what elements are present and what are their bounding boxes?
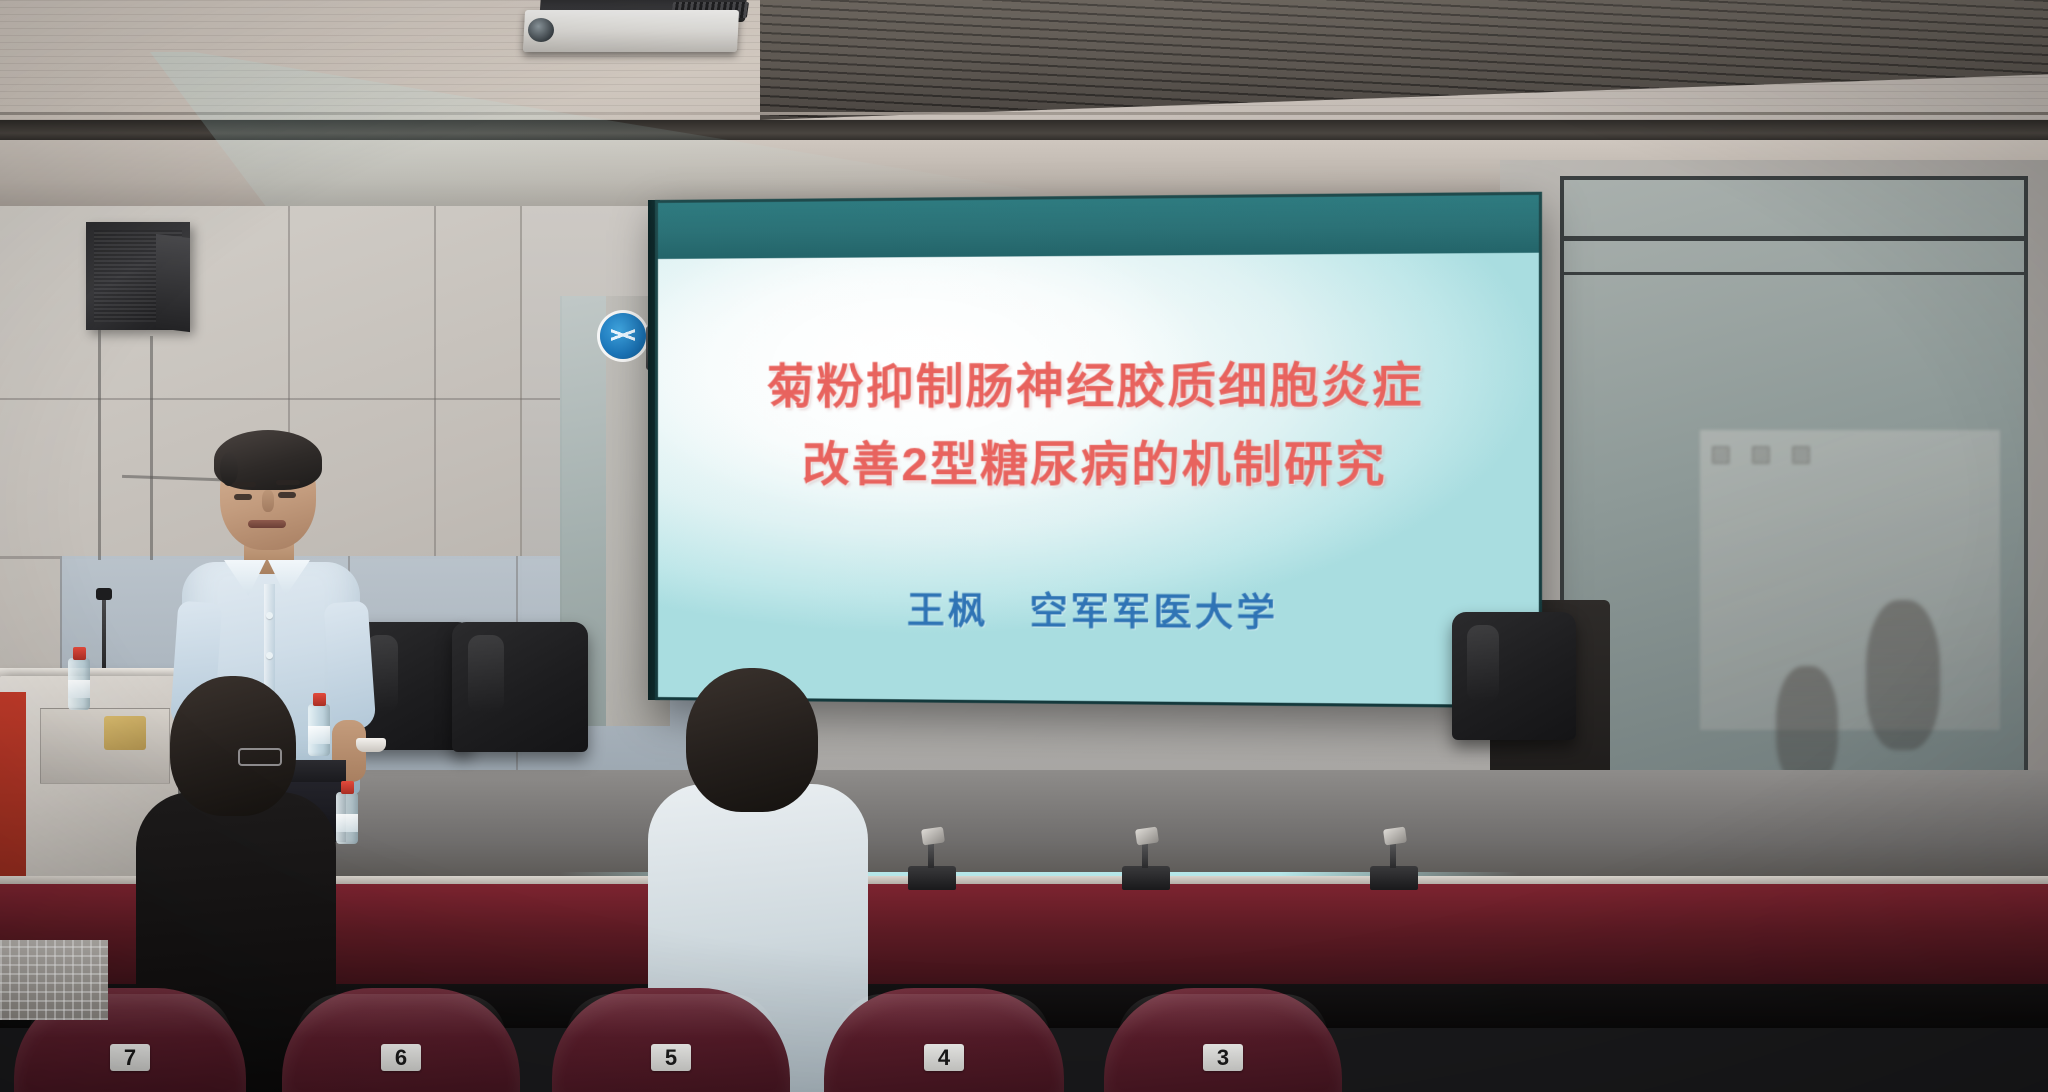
seat-number: 5 (651, 1044, 691, 1071)
wall-air-grille (0, 940, 108, 1020)
attendee-left-glasses-icon (238, 748, 282, 766)
window-reflection-person-2 (1776, 666, 1838, 786)
tea-cup (356, 738, 386, 752)
institution-logo-icon (600, 313, 646, 359)
podium-red-accent (0, 692, 26, 892)
window-reflection-person-1 (1866, 600, 1940, 750)
podium-mic-icon (96, 588, 112, 600)
presenter-eye-right (278, 492, 296, 498)
window-poster: ▨ ▨ ▨ (1700, 430, 2000, 730)
microphone-icon (1135, 827, 1159, 846)
water-bottle-front-row (336, 778, 360, 844)
attendee-center-head (686, 668, 818, 812)
water-bottle-podium (68, 644, 92, 710)
wall-seam-1 (0, 398, 560, 400)
projector-lens-icon (528, 18, 554, 42)
slide-author: 王枫 空军军医大学 (658, 579, 1539, 639)
wall-speaker-side (156, 234, 190, 332)
presenter-brow-left (232, 482, 256, 487)
bottle-label (336, 814, 358, 832)
slide-title-line-1: 菊粉抑制肠神经胶质细胞炎症 (658, 348, 1539, 423)
slide-title-line-2: 改善2型糖尿病的机制研究 (658, 428, 1539, 502)
window-mullion-horizontal (1564, 236, 2024, 241)
table-microphone-3 (1370, 824, 1418, 890)
presenter-brow-right (276, 480, 300, 485)
stage-chair-3 (1452, 612, 1576, 740)
projection-screen: 菊粉抑制肠神经胶质细胞炎症 改善2型糖尿病的机制研究 王枫 空军军医大学 (655, 192, 1542, 709)
wall-seam-4 (434, 206, 436, 558)
mic-base (1370, 866, 1418, 890)
audience-seat[interactable]: 5 (552, 988, 790, 1092)
ceiling-projector (524, 0, 756, 62)
conference-hall-photo: ▨ ▨ ▨ 菊粉抑制肠神经胶质细胞炎症 改善2型糖尿病的机制研究 王枫 空军军医… (0, 0, 2048, 1092)
presenter-button-1 (266, 612, 273, 619)
attendee-left-head (170, 676, 296, 816)
table-microphone-1 (908, 824, 956, 890)
seat-number: 6 (381, 1044, 421, 1071)
seat-number: 3 (1203, 1044, 1243, 1071)
ceiling-seam (0, 112, 2048, 115)
seat-number: 7 (110, 1044, 150, 1071)
bottle-cap-icon (73, 647, 86, 660)
microphone-icon (1383, 827, 1407, 846)
audience-seat[interactable]: 4 (824, 988, 1064, 1092)
audience-seat[interactable]: 3 (1104, 988, 1342, 1092)
presenter-button-2 (266, 652, 273, 659)
seat-number: 4 (924, 1044, 964, 1071)
bottle-label (68, 680, 90, 698)
bottle-cap-icon (341, 781, 354, 794)
wall-conduit-2 (150, 336, 153, 560)
podium-mic-stem (102, 596, 106, 674)
audience-seat[interactable]: 6 (282, 988, 520, 1092)
wall-conduit-1 (98, 330, 101, 560)
presenter-mouth (248, 520, 286, 528)
mic-base (1122, 866, 1170, 890)
screen-surface: 菊粉抑制肠神经胶质细胞炎症 改善2型糖尿病的机制研究 王枫 空军军医大学 (658, 253, 1539, 705)
presenter-nose (262, 490, 274, 512)
mic-base (908, 866, 956, 890)
poster-text: ▨ ▨ ▨ (1710, 440, 1818, 467)
slide-title: 菊粉抑制肠神经胶质细胞炎症 改善2型糖尿病的机制研究 (658, 348, 1539, 508)
table-microphone-2 (1122, 824, 1170, 890)
presenter-eye-left (234, 494, 252, 500)
window-mullion-horizontal-2 (1564, 272, 2024, 275)
stage-chair-2 (452, 622, 588, 752)
projector-body (523, 10, 739, 52)
presenter-hair (214, 430, 322, 490)
screen-top-band (658, 195, 1539, 259)
microphone-icon (921, 827, 945, 846)
